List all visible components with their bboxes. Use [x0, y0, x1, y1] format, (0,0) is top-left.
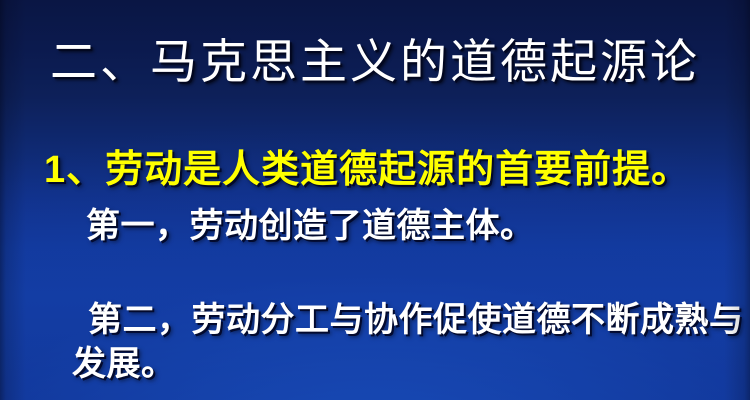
slide-point-second: 第二，劳动分工与协作促使道德不断成熟与发展。 — [72, 298, 744, 386]
presentation-slide: 二、马克思主义的道德起源论 1、劳动是人类道德起源的首要前提。 第一，劳动创造了… — [0, 0, 750, 400]
slide-heading-1: 1、劳动是人类道德起源的首要前提。 — [44, 146, 690, 194]
slide-title: 二、马克思主义的道德起源论 — [0, 34, 750, 92]
slide-point-first: 第一，劳动创造了道德主体。 — [86, 204, 535, 248]
